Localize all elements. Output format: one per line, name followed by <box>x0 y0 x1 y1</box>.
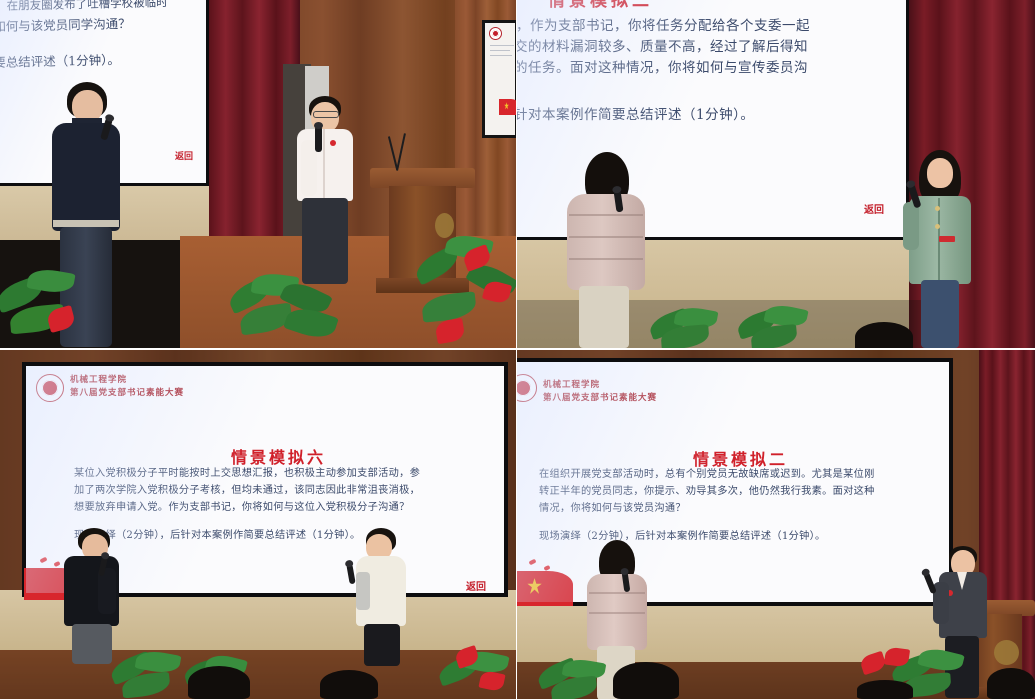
audience-head-1 <box>188 666 250 699</box>
scene-top-left: ，在朋友圈发布了吐槽学校被临时 如何与该党员同学沟通？ 要总结评述（1分钟）。 … <box>0 0 516 348</box>
audience-head-3 <box>857 680 913 699</box>
slide-footer-br: 现场演绎（2分钟），后针对本案例作简要总结评述（1分钟）。 <box>539 529 826 545</box>
audience-head <box>855 322 913 348</box>
slide-body-bl-2: 加了两次学院入党积极分子考核，但均未通过，该同志因此非常沮丧消极， <box>74 483 420 499</box>
panel-divider-horizontal <box>0 348 1035 350</box>
audience-head-1 <box>613 662 679 699</box>
legs <box>364 624 400 666</box>
slide-body-tr-1: 重，作为支部书记，你将任务分配给各个支委一起 <box>517 16 810 37</box>
sweater-hem <box>53 220 119 227</box>
party-badge-icon <box>330 140 336 146</box>
slide-body-bl-1: 某位入党积极分子平时能按时上交思想汇报，也积极主动参加支部活动，参 <box>74 466 420 482</box>
slide-body-tl-1: ，在朋友圈发布了吐槽学校被临时 <box>0 0 168 16</box>
puffer-jacket <box>567 194 645 290</box>
photo-panel-bottom-left: 机械工程学院 第八届党支部书记素能大赛 情景模拟六 某位入党积极分子平时能按时上… <box>0 350 516 699</box>
party-flag-graphic <box>517 558 573 606</box>
legs <box>72 624 112 664</box>
scene-bottom-right: 机械工程学院 第八届党支部书记素能大赛 情景模拟二 在组织开展党支部活动时，总有… <box>517 350 1035 699</box>
person-sage-cardigan <box>905 150 977 348</box>
microphone <box>315 126 322 152</box>
scene-bottom-left: 机械工程学院 第八届党支部书记素能大赛 情景模拟六 某位入党积极分子平时能按时上… <box>0 350 516 699</box>
name-tag <box>939 236 955 242</box>
legs <box>921 280 959 348</box>
slide-title-tr: 情景模拟二 <box>548 0 653 11</box>
slide-footer-tl: 要总结评述（1分钟）。 <box>0 50 120 72</box>
person-black-jacket <box>62 528 124 660</box>
photo-collage: ，在朋友圈发布了吐槽学校被临时 如何与该党员同学沟通？ 要总结评述（1分钟）。 … <box>0 0 1035 699</box>
glasses-icon <box>313 111 339 118</box>
school-logo-icon <box>36 374 64 402</box>
slide-footer-tr: 后针对本案例作简要总结评述（1分钟）。 <box>517 105 754 126</box>
slide-body-tr-2: 上交的材料漏洞较多、质量不高，经过了解后得知 <box>517 37 808 58</box>
slide-body-br-3: 情况，你将如何与该党员沟通？ <box>539 501 686 517</box>
person-white-hoodie <box>350 528 412 663</box>
plant-left <box>0 262 110 348</box>
photo-panel-top-right: 情景模拟二 重，作为支部书记，你将任务分配给各个支委一起 上交的材料漏洞较多、质… <box>517 0 1035 348</box>
framed-poster <box>482 20 516 138</box>
plant-right <box>436 644 516 699</box>
audience-head-2 <box>987 668 1035 699</box>
poster-party-flag-icon <box>499 93 516 115</box>
plant-center <box>222 270 352 348</box>
head <box>927 158 953 188</box>
plant-right <box>412 224 516 348</box>
slide-back-button-tr[interactable]: 返回 <box>864 201 884 216</box>
slide-back-button-tl[interactable]: 返回 <box>175 149 193 162</box>
plant-right <box>735 304 827 348</box>
audience-head-2 <box>320 670 378 699</box>
photo-panel-bottom-right: 机械工程学院 第八届党支部书记素能大赛 情景模拟二 在组织开展党支部活动时，总有… <box>517 350 1035 699</box>
legs <box>579 286 629 348</box>
projector-screen: 机械工程学院 第八届党支部书记素能大赛 情景模拟二 在组织开展党支部活动时，总有… <box>517 358 953 606</box>
plant-left <box>647 306 737 348</box>
person-white-shirt <box>295 96 357 280</box>
slide-back-button-bl[interactable]: 返回 <box>466 578 486 593</box>
hoodie-sleeve <box>356 572 370 610</box>
slide-title-bl: 情景模拟六 <box>231 444 326 468</box>
slide-body-tr-3: 成的任务。面对这种情况，你将如何与宣传委员沟 <box>517 58 808 79</box>
photo-panel-top-left: ，在朋友圈发布了吐槽学校被临时 如何与该党员同学沟通？ 要总结评述（1分钟）。 … <box>0 0 516 348</box>
school-logo-icon <box>517 374 537 402</box>
person-pink-puffer <box>565 152 647 348</box>
slide-header-line1-br: 机械工程学院 <box>543 380 600 391</box>
slide-body-br-2: 转正半年的党员同志，你提示、劝导其多次，他仍然我行我素。面对这种 <box>539 484 875 500</box>
poster-logo-icon <box>489 27 502 40</box>
arm <box>98 134 118 194</box>
slide-header-line2-br: 第八届党支部书记素能大赛 <box>543 393 657 404</box>
scene-top-right: 情景模拟二 重，作为支部书记，你将任务分配给各个支委一起 上交的材料漏洞较多、质… <box>517 0 1035 348</box>
slide-header-line1-bl: 机械工程学院 <box>70 375 127 386</box>
slide-header-line2-bl: 第八届党支部书记素能大赛 <box>70 388 184 399</box>
arm <box>903 202 919 250</box>
slide-body-bl-3: 想要放弃申请入党。作为支部书记，你将如何与这位入党积极分子沟通？ <box>74 500 410 516</box>
slide-body-tl-2: 如何与该党员同学沟通？ <box>0 14 131 36</box>
slide-body-br-1: 在组织开展党支部活动时，总有个别党员无故缺席或迟到。尤其是某位刚 <box>539 467 875 483</box>
